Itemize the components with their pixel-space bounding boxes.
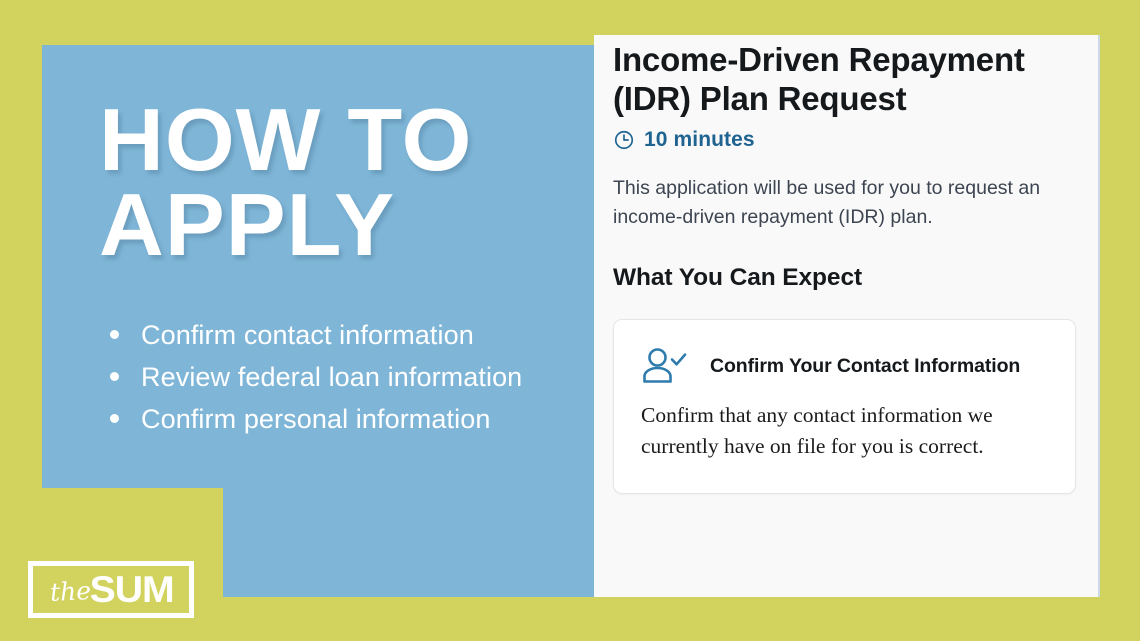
list-item: Confirm contact information [99, 316, 554, 354]
right-content-panel: Income-Driven Repayment (IDR) Plan Reque… [594, 35, 1100, 597]
logo-sum-text: SUM [90, 571, 174, 608]
clock-icon [613, 129, 635, 151]
person-check-icon [641, 346, 688, 386]
how-to-apply-title: HOW TO APPLY [99, 97, 563, 268]
duration-text: 10 minutes [644, 128, 755, 152]
card-body-text: Confirm that any contact information we … [641, 400, 1049, 462]
page-title: Income-Driven Repayment (IDR) Plan Reque… [613, 41, 1074, 118]
page-title-line-2: (IDR) Plan Request [613, 80, 906, 117]
section-heading-what-you-can-expect: What You Can Expect [613, 264, 1074, 292]
page-title-line-1: Income-Driven Repayment [613, 41, 1025, 78]
list-item: Review federal loan information [99, 358, 554, 396]
card-header: Confirm Your Contact Information [641, 346, 1049, 386]
the-sum-logo: the SUM [28, 561, 194, 618]
card-title: Confirm Your Contact Information [710, 355, 1020, 378]
intro-paragraph: This application will be used for you to… [613, 174, 1074, 231]
duration-row: 10 minutes [613, 128, 1074, 152]
expect-card-confirm-contact-information[interactable]: Confirm Your Contact Information Confirm… [613, 319, 1076, 493]
how-to-apply-title-line-2: APPLY [99, 182, 563, 267]
how-to-apply-title-line-1: HOW TO [99, 97, 563, 182]
how-to-apply-bullet-list: Confirm contact information Review feder… [99, 316, 554, 439]
list-item: Confirm personal information [99, 400, 554, 438]
logo-the-text: the [50, 578, 92, 605]
